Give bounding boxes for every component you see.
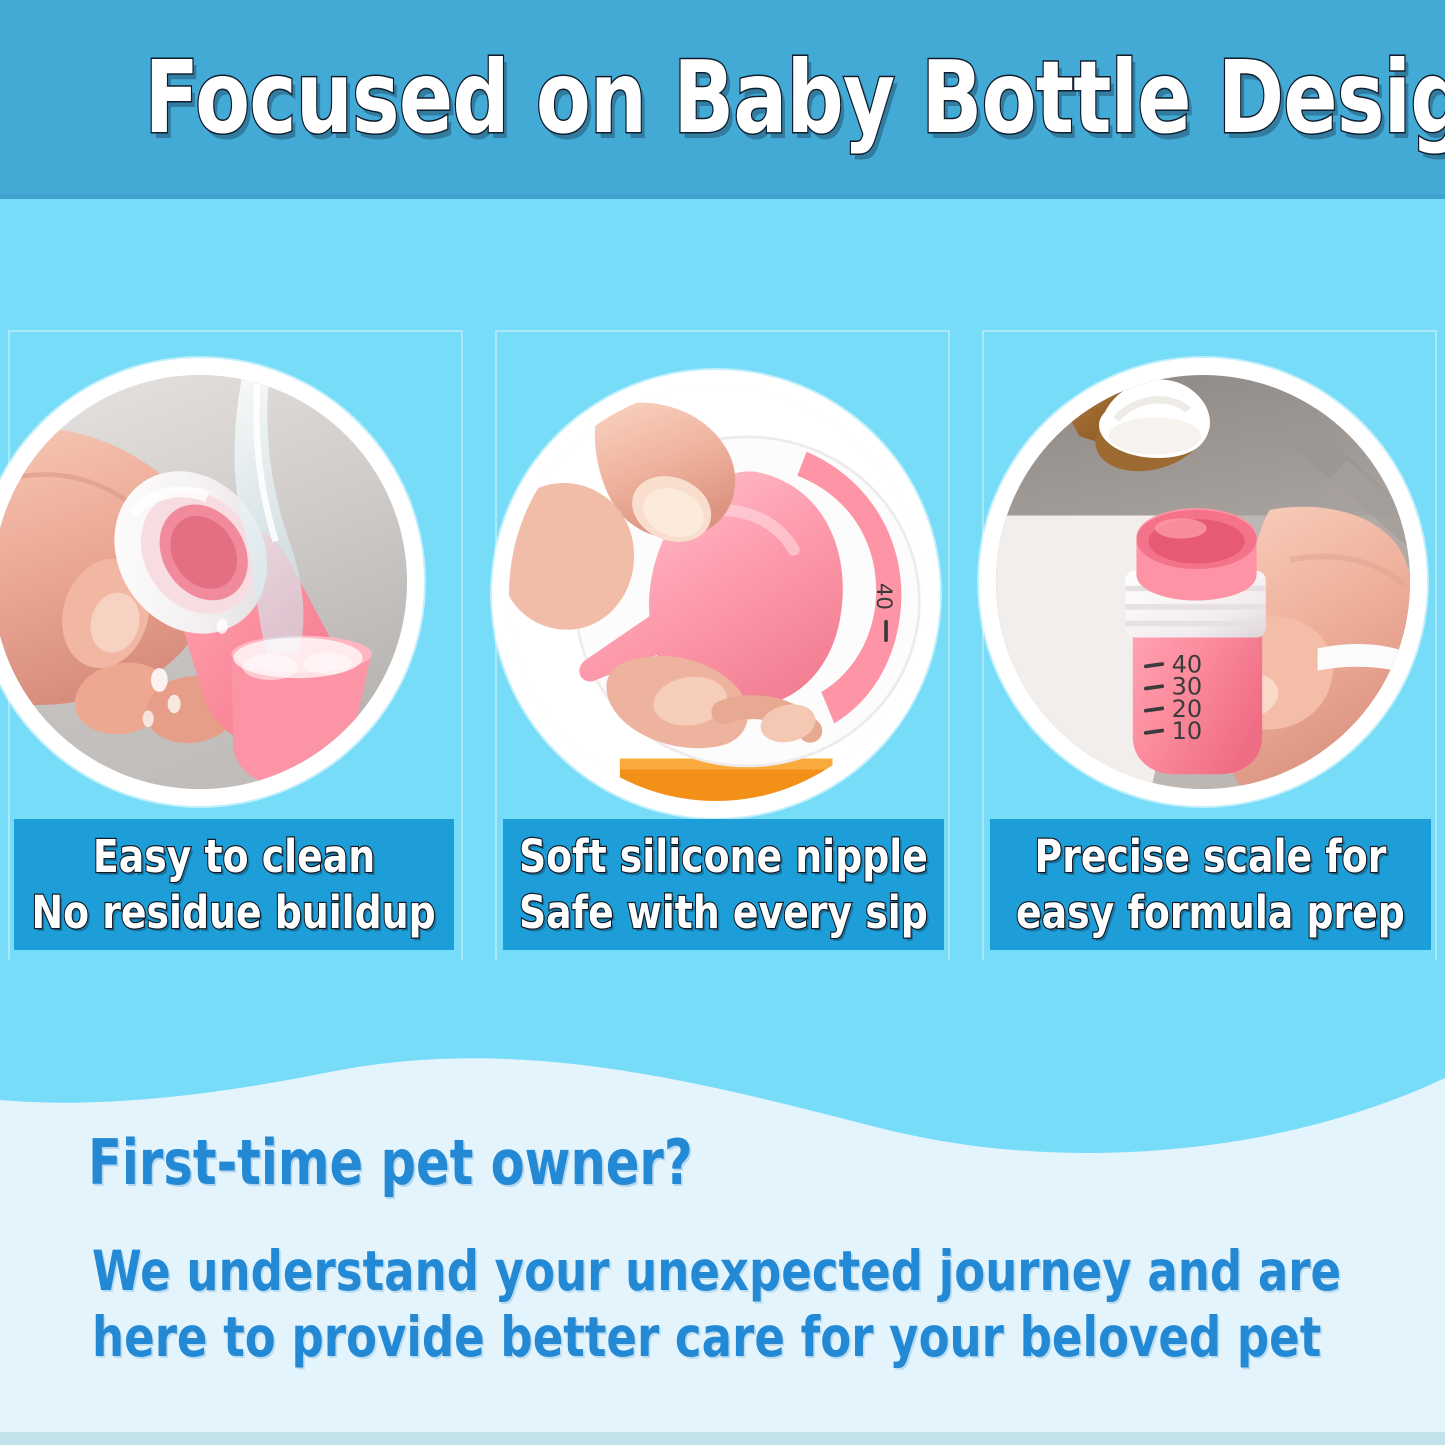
bottom-body-line-1: We understand your unexpected journey an… (92, 1238, 1158, 1304)
caption-line-2: easy formula prep (1016, 885, 1405, 941)
formula-scoop-bottle-illustration: 40 30 20 10 (996, 375, 1410, 789)
caption-line-1: Precise scale for (1035, 829, 1387, 885)
photo-easy-to-clean (0, 358, 424, 806)
nipple-scale-label: 40 (871, 583, 896, 610)
bottom-heading: First-time pet owner? (88, 1128, 693, 1198)
photo-soft-nipple: 40 (492, 370, 940, 818)
caption-easy-to-clean: Easy to clean No residue buildup (14, 819, 454, 950)
bottom-body-line-2: here to provide better care for your bel… (92, 1304, 1158, 1370)
caption-line-2: Safe with every sip (519, 885, 928, 941)
feature-panel-easy-to-clean[interactable]: Easy to clean No residue buildup (8, 330, 463, 975)
bottom-body-text: We understand your unexpected journey an… (92, 1238, 1158, 1370)
caption-precise-scale: Precise scale for easy formula prep (990, 819, 1431, 950)
product-infographic-poster: Focused on Baby Bottle Design (0, 0, 1445, 1445)
bottom-edge-rule (0, 1432, 1445, 1445)
svg-text:10: 10 (1172, 717, 1203, 745)
caption-line-2: No residue buildup (32, 885, 436, 941)
feature-panel-row: Easy to clean No residue buildup (0, 330, 1445, 980)
caption-soft-nipple: Soft silicone nipple Safe with every sip (503, 819, 944, 950)
squeezing-nipple-illustration: 40 (509, 387, 923, 801)
caption-line-1: Soft silicone nipple (519, 829, 928, 885)
caption-line-1: Easy to clean (93, 829, 375, 885)
feature-panel-soft-nipple[interactable]: 40 (495, 330, 950, 975)
rinsing-bottle-illustration (0, 375, 407, 789)
header-banner: Focused on Baby Bottle Design (0, 0, 1445, 199)
page-title: Focused on Baby Bottle Design (145, 44, 1301, 152)
feature-panel-precise-scale[interactable]: 40 30 20 10 Precise scale for easy formu… (982, 330, 1437, 975)
photo-precise-scale: 40 30 20 10 (979, 358, 1427, 806)
